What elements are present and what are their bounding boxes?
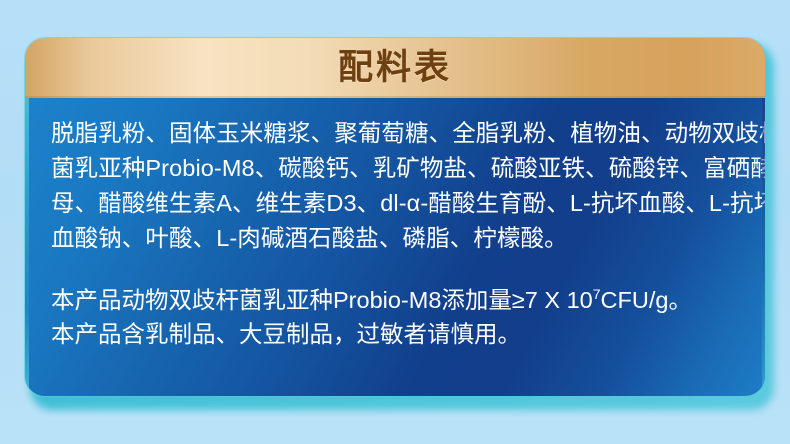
ingredient-line: 血酸钠、叶酸、L-肉碱酒石酸盐、磷脂、柠檬酸。 — [51, 221, 739, 256]
ingredient-line: 菌乳亚种Probio-M8、碳酸钙、乳矿物盐、硫酸亚铁、硫酸锌、富硒酵 — [51, 151, 739, 186]
notice-probiotic-count-suffix: CFU/g。 — [601, 287, 692, 313]
ingredient-card: 配料表 脱脂乳粉、固体玉米糖浆、聚葡萄糖、全脂乳粉、植物油、动物双歧杆 菌乳亚种… — [25, 38, 765, 396]
notice-probiotic-count: 本产品动物双歧杆菌乳亚种Probio-M8添加量≥7 X 107CFU/g。 — [51, 283, 739, 317]
notice-allergen: 本产品含乳制品、大豆制品，过敏者请慎用。 — [51, 317, 739, 351]
notice-list: 本产品动物双歧杆菌乳亚种Probio-M8添加量≥7 X 107CFU/g。 本… — [51, 283, 739, 351]
ingredient-line: 脱脂乳粉、固体玉米糖浆、聚葡萄糖、全脂乳粉、植物油、动物双歧杆 — [51, 116, 739, 151]
page-canvas: 配料表 脱脂乳粉、固体玉米糖浆、聚葡萄糖、全脂乳粉、植物油、动物双歧杆 菌乳亚种… — [0, 0, 790, 444]
notice-probiotic-count-prefix: 本产品动物双歧杆菌乳亚种Probio-M8添加量≥7 X 10 — [51, 287, 593, 313]
ingredient-line: 母、醋酸维生素A、维生素D3、dl-α-醋酸生育酚、L-抗坏血酸、L-抗坏 — [51, 186, 739, 221]
page-title: 配料表 — [338, 50, 452, 87]
card-body: 脱脂乳粉、固体玉米糖浆、聚葡萄糖、全脂乳粉、植物油、动物双歧杆 菌乳亚种Prob… — [25, 98, 765, 396]
card-header: 配料表 — [25, 38, 765, 98]
ingredient-list: 脱脂乳粉、固体玉米糖浆、聚葡萄糖、全脂乳粉、植物油、动物双歧杆 菌乳亚种Prob… — [51, 116, 739, 256]
notice-exponent: 7 — [593, 286, 601, 302]
